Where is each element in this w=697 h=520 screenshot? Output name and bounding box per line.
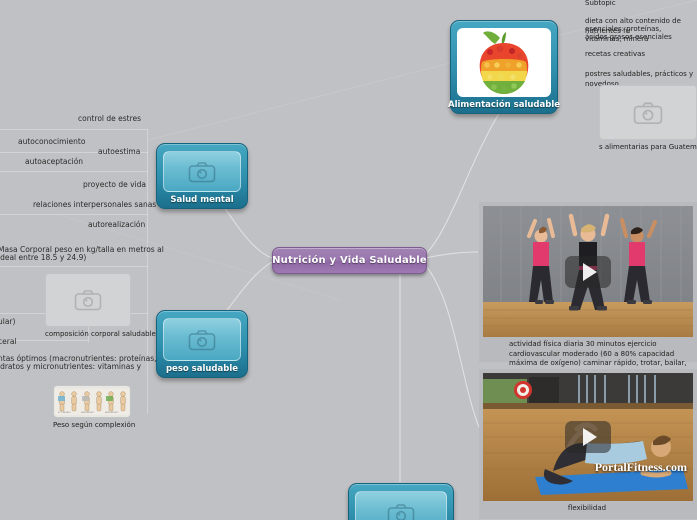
video-card-actividad-fisica[interactable]: actividad física diaria 30 minutos ejerc…: [479, 202, 697, 362]
image-placeholder: [45, 273, 131, 327]
leaf-label-proyecto-de-vida[interactable]: proyecto de vida: [83, 180, 146, 190]
topic-label: Alimentación saludable: [448, 100, 560, 110]
divider-line: [0, 171, 148, 172]
leaf-label-muscular[interactable]: ular): [0, 317, 15, 327]
divider-line: [0, 129, 148, 130]
divider-line: [147, 129, 148, 414]
divider-line: [0, 214, 148, 215]
body-types-icon: ECTOMORFOMESOMORFOENDOMORFO: [55, 389, 129, 415]
leaf-label-nutrientes-line2[interactable]: idratos y micronutrientes: vitaminas y: [0, 362, 141, 372]
fruit-apple-icon: [470, 28, 538, 97]
topic-thumbnail: [163, 318, 241, 361]
svg-text:MESOMORFO: MESOMORFO: [81, 412, 95, 414]
video-thumbnail[interactable]: PortalFitness.com: [483, 373, 693, 501]
leaf-label-visceral[interactable]: ceral: [0, 337, 17, 347]
image-placeholder: ECTOMORFOMESOMORFOENDOMORFO: [53, 385, 131, 418]
leaf-label-autorealizacion[interactable]: autorealización: [88, 220, 145, 230]
image-card-peso-segun-complexion[interactable]: ECTOMORFOMESOMORFOENDOMORFO Peso según c…: [53, 385, 131, 429]
central-topic-node[interactable]: Nutrición y Vida Saludable: [272, 247, 427, 274]
leaf-label-relaciones-interpersonales[interactable]: relaciones interpersonales sanas: [33, 200, 156, 210]
topic-node-salud-mental[interactable]: Salud mental: [156, 143, 248, 209]
video-thumbnail[interactable]: [483, 206, 693, 337]
topic-node-peso-saludable[interactable]: peso saludable: [156, 310, 248, 378]
topic-node-alimentacion-saludable[interactable]: Alimentación saludable: [450, 20, 558, 114]
camera-icon: [188, 329, 216, 351]
central-topic-label: Nutrición y Vida Saludable: [272, 255, 427, 266]
svg-text:ENDOMORFO: ENDOMORFO: [105, 412, 119, 414]
video-card-flexibilidad[interactable]: PortalFitness.com flexibilidad: [479, 369, 697, 519]
topic-thumbnail: [457, 28, 551, 97]
leaf-label-autoconocimiento[interactable]: autoconocimiento: [18, 137, 85, 147]
video-caption: flexibilidad: [483, 501, 693, 516]
image-card-label: Peso según complexión: [53, 421, 131, 429]
camera-icon: [188, 161, 216, 183]
leaf-label-imc-line2[interactable]: ideal entre 18.5 y 24.9): [0, 253, 86, 263]
note-dieta-line3[interactable]: ácidos grasos esenciales: [585, 32, 672, 42]
video-watermark: PortalFitness.com: [595, 460, 687, 475]
play-button-icon[interactable]: [565, 256, 611, 288]
topic-thumbnail: [163, 151, 241, 192]
image-placeholder: [599, 85, 697, 140]
image-card-label: s alimentarias para Guatemala: [599, 143, 697, 151]
note-recetas-creativas[interactable]: recetas creativas: [585, 49, 645, 59]
leaf-label-autoestima[interactable]: autoestima: [98, 147, 140, 157]
mindmap-canvas: Nutrición y Vida Saludable Salud mental …: [0, 0, 697, 520]
play-button-icon[interactable]: [565, 421, 611, 453]
image-card-guias-alimentarias[interactable]: s alimentarias para Guatemala: [599, 85, 697, 151]
topic-label: peso saludable: [166, 364, 238, 374]
topic-thumbnail: [355, 491, 447, 520]
leaf-label-autoaceptacion[interactable]: autoaceptación: [25, 157, 83, 167]
image-card-label: composición corporal saludable: [45, 330, 131, 338]
camera-icon: [633, 101, 663, 125]
topic-label: Salud mental: [170, 195, 233, 205]
subtopic-header[interactable]: Subtopic: [585, 0, 616, 8]
divider-line: [0, 266, 148, 267]
camera-icon: [74, 289, 102, 311]
camera-icon: [387, 503, 415, 520]
leaf-label-control-de-estres[interactable]: control de estres: [78, 114, 141, 124]
topic-node-bottom[interactable]: [348, 483, 454, 520]
svg-text:ECTOMORFO: ECTOMORFO: [58, 412, 71, 414]
image-card-composicion-corporal[interactable]: composición corporal saludable: [45, 273, 131, 338]
